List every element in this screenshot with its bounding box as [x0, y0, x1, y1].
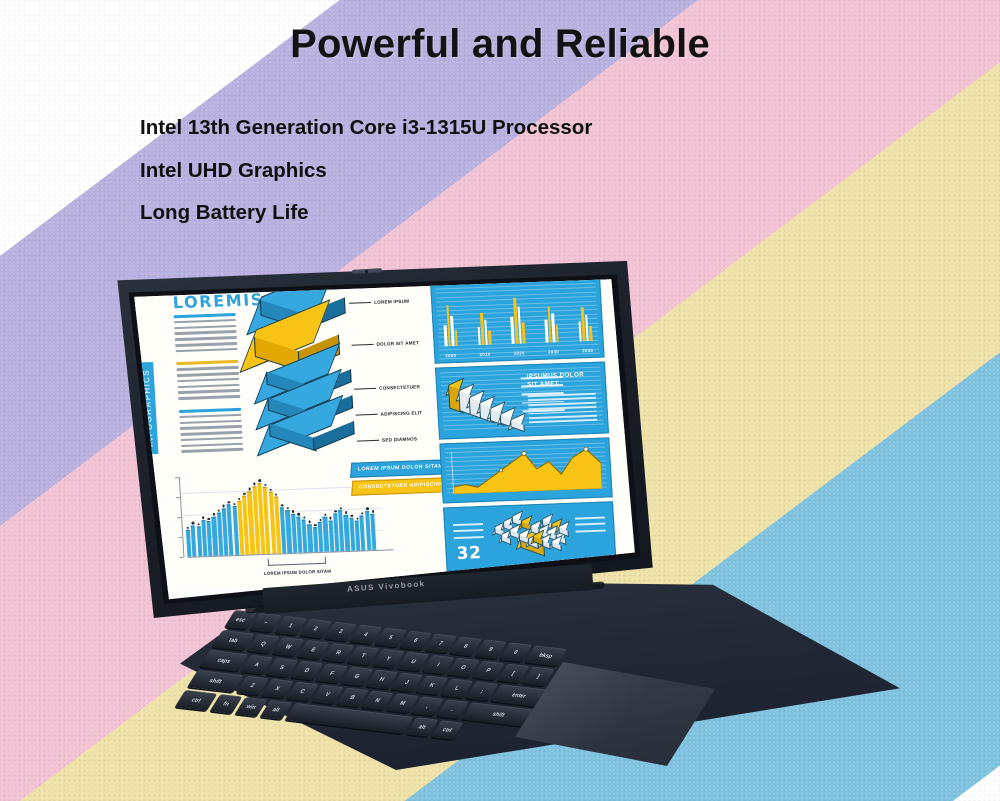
histogram-marker — [361, 512, 364, 514]
histogram-marker — [233, 503, 236, 505]
bar — [455, 330, 458, 346]
histogram-marker — [319, 519, 322, 521]
histogram-marker — [207, 518, 210, 520]
histogram-marker — [187, 527, 190, 529]
bar-group — [509, 298, 525, 344]
histogram-marker — [253, 483, 256, 485]
histogram-marker — [264, 484, 267, 486]
feature-item-graphics: Intel UHD Graphics — [140, 161, 592, 182]
histogram-marker — [356, 517, 359, 519]
panel-grouped-bar-chart: 2000 2010 2020 2030 2040 — [430, 278, 605, 364]
step-block — [447, 382, 463, 383]
histogram-marker — [334, 510, 337, 512]
histogram-marker — [258, 479, 261, 481]
histogram-marker — [243, 493, 246, 495]
histogram-marker — [228, 501, 231, 503]
bar — [522, 323, 526, 344]
histogram-marker — [218, 510, 221, 512]
histogram-marker — [303, 516, 306, 518]
callout-1: LOREM IPSUM — [349, 299, 409, 306]
bar — [488, 331, 491, 345]
histogram-marker — [202, 517, 205, 519]
callout-2: DOLOR SIT AMET — [351, 340, 419, 347]
bar — [555, 326, 559, 343]
infographic-poster: INFOGRAPHICS LOREMIS — [134, 265, 634, 592]
laptop-product-image: esc ~ 1 2 3 4 5 6 7 8 9 0 bksp tab Q W E… — [95, 258, 895, 778]
histogram-marker — [197, 523, 200, 525]
histogram-marker — [212, 513, 215, 515]
bar-group — [577, 307, 592, 342]
feature-list: Intel 13th Generation Core i3-1315U Proc… — [140, 118, 592, 246]
panel-heading: IPSUMUS DOLOR SIT AMET — [526, 371, 595, 389]
panel-area-chart — [439, 437, 612, 503]
histogram-marker — [329, 517, 332, 519]
x-label: 2030 — [548, 349, 559, 354]
bar-group — [442, 305, 458, 346]
step-blocks — [447, 379, 532, 432]
bar-group — [477, 312, 492, 345]
x-label: 2010 — [479, 352, 490, 357]
histogram-marker — [345, 511, 348, 513]
page-title: Powerful and Reliable — [0, 22, 1000, 67]
highlight-brace — [268, 557, 326, 566]
callout-3: CONSECTETUER — [354, 384, 420, 391]
product-banner: Powerful and Reliable Intel 13th Generat… — [0, 0, 1000, 801]
highlight-brace-label: LOREM IPSUM DOLOR SITAM — [256, 568, 338, 576]
key: bksp — [524, 645, 567, 666]
x-label: 2040 — [582, 348, 593, 353]
histogram-marker — [275, 493, 278, 495]
feature-item-battery: Long Battery Life — [140, 203, 592, 224]
x-label: 2020 — [514, 350, 525, 355]
histogram-marker — [248, 488, 251, 490]
histogram-marker — [223, 505, 226, 507]
cube-cluster-illustration — [493, 511, 588, 562]
histogram-marker — [308, 521, 311, 523]
poster-body-text-column — [174, 313, 244, 456]
area-chart-svg — [452, 447, 602, 494]
callout-5: SED DIAMNOS — [357, 436, 417, 443]
histogram-marker — [324, 514, 327, 516]
histogram-marker — [351, 514, 354, 516]
x-label: 2000 — [445, 353, 456, 358]
area-chart-axes — [451, 447, 601, 494]
panel-descending-steps: IPSUMUS DOLOR SIT AMET — [435, 361, 609, 439]
histogram-marker — [314, 524, 317, 526]
histogram-marker — [281, 504, 284, 506]
histogram-marker — [297, 513, 300, 515]
histogram-marker — [192, 522, 195, 524]
histogram-marker — [292, 510, 295, 512]
stat-number: 32 — [456, 543, 482, 564]
grouped-bars — [442, 289, 593, 346]
histogram-marker — [269, 489, 272, 491]
histogram-marker — [372, 510, 375, 512]
panel-body-text — [528, 393, 598, 426]
feature-item-processor: Intel 13th Generation Core i3-1315U Proc… — [140, 118, 592, 139]
histogram-marker — [366, 507, 369, 509]
panel-label-left — [453, 523, 484, 543]
bar-group — [544, 306, 559, 343]
histogram-marker — [238, 498, 241, 500]
key: caps — [200, 650, 249, 671]
callout-4: ADIPISCING ELIT — [355, 410, 422, 417]
stack-box-5 — [261, 410, 367, 444]
histogram-marker — [286, 507, 289, 509]
key: shift — [187, 670, 244, 692]
histogram-marker — [340, 507, 343, 509]
